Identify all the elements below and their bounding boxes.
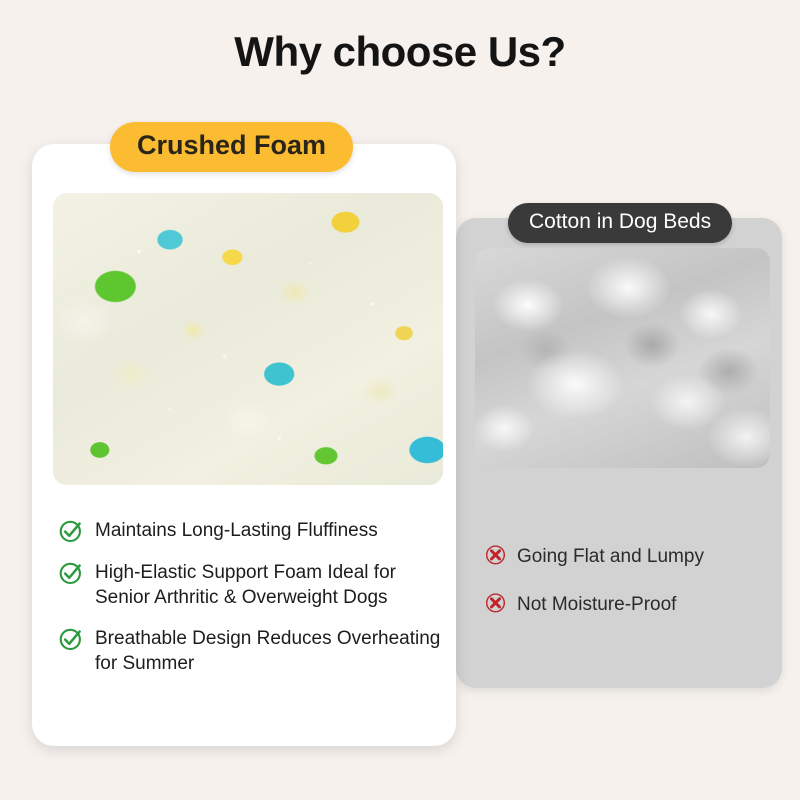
check-circle-icon [58, 560, 84, 586]
x-circle-icon [484, 543, 507, 566]
list-item: High-Elastic Support Foam Ideal for Seni… [58, 560, 448, 610]
check-circle-icon [58, 626, 84, 652]
pros-list: Maintains Long-Lasting Fluffiness High-E… [58, 518, 448, 693]
cotton-texture [475, 248, 770, 468]
con-text: Not Moisture-Proof [517, 591, 676, 617]
page-title: Why choose Us? [0, 28, 800, 76]
x-circle-icon [484, 591, 507, 614]
list-item: Not Moisture-Proof [484, 591, 774, 617]
foam-texture [53, 193, 443, 485]
cotton-photo [475, 248, 770, 468]
check-circle-icon [58, 518, 84, 544]
cons-list: Going Flat and Lumpy Not Moisture-Proof [484, 543, 774, 640]
con-text: Going Flat and Lumpy [517, 543, 704, 569]
pro-text: Maintains Long-Lasting Fluffiness [95, 518, 378, 544]
crushed-foam-photo [53, 193, 443, 485]
list-item: Maintains Long-Lasting Fluffiness [58, 518, 448, 544]
list-item: Breathable Design Reduces Overheating fo… [58, 626, 448, 676]
cotton-badge: Cotton in Dog Beds [508, 203, 732, 243]
list-item: Going Flat and Lumpy [484, 543, 774, 569]
pro-text: High-Elastic Support Foam Ideal for Seni… [95, 560, 448, 610]
pro-text: Breathable Design Reduces Overheating fo… [95, 626, 448, 676]
crushed-foam-badge: Crushed Foam [110, 122, 353, 172]
